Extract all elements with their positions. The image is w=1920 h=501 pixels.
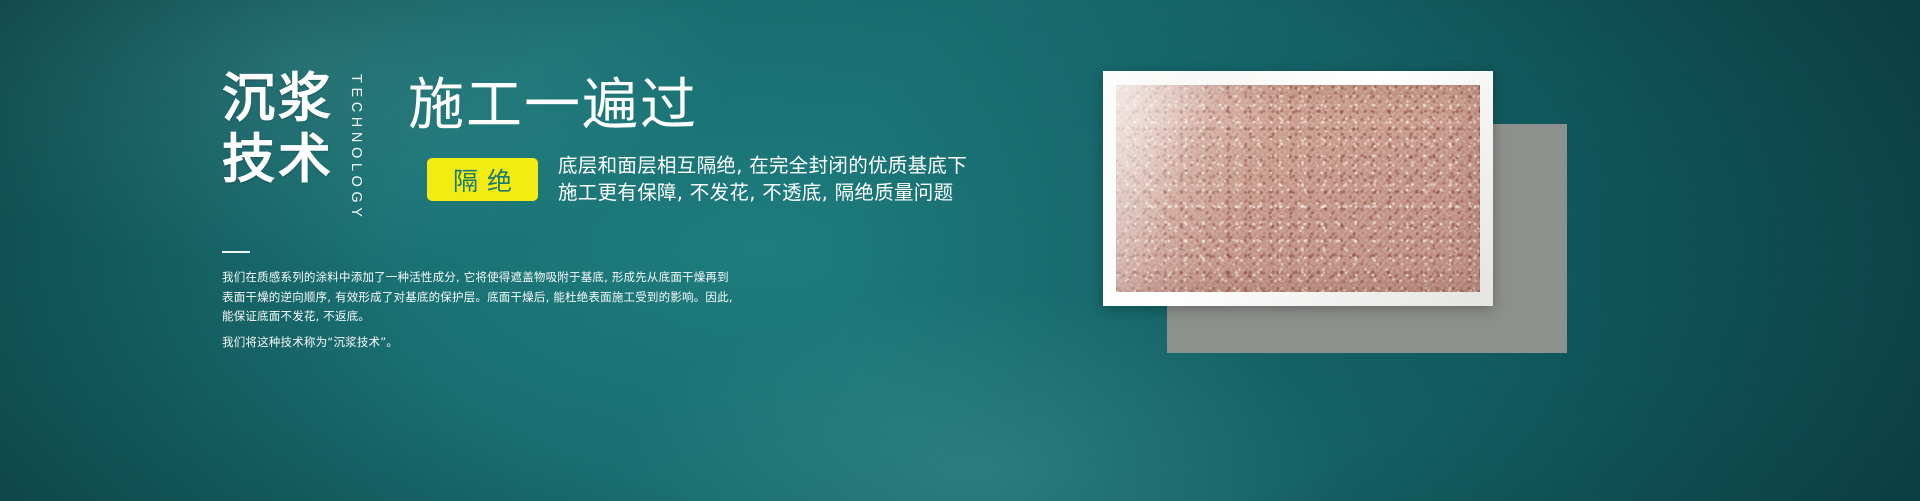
subheadline-line-1: 底层和面层相互隔绝, 在完全封闭的优质基底下 [558,152,967,179]
section-divider [222,251,250,253]
logo-wordmark: 沉浆 技术 [222,68,334,190]
headline: 施工一遍过 [408,75,698,137]
body-paragraph: 我们在质感系列的涂料中添加了一种活性成分, 它将使得遮盖物吸附于基底, 形成先从… [222,268,733,327]
photo-gloss-overlay [1116,85,1480,292]
subheadline: 底层和面层相互隔绝, 在完全封闭的优质基底下 施工更有保障, 不发花, 不透底,… [558,152,967,206]
product-photo-frame [1103,71,1493,306]
promo-banner: 沉浆 技术 TECHNOLOGY 施工一遍过 隔绝 底层和面层相互隔绝, 在完全… [0,0,1920,501]
body-line-1: 我们在质感系列的涂料中添加了一种活性成分, 它将使得遮盖物吸附于基底, 形成先从… [222,268,733,288]
logo-line-1: 沉浆 [222,68,334,129]
logo-english-label: TECHNOLOGY [348,74,364,222]
product-photo-texture [1116,85,1480,292]
body-line-2: 表面干燥的逆向顺序, 有效形成了对基底的保护层。底面干燥后, 能杜绝表面施工受到… [222,288,733,308]
brand-logo: 沉浆 技术 TECHNOLOGY [222,68,364,222]
body-line-3: 能保证底面不发花, 不返底。 [222,307,733,327]
feature-badge: 隔绝 [427,158,538,201]
subheadline-line-2: 施工更有保障, 不发花, 不透底, 隔绝质量问题 [558,179,967,206]
closing-paragraph: 我们将这种技术称为“沉浆技术”。 [222,333,398,353]
logo-line-2: 技术 [222,129,334,190]
